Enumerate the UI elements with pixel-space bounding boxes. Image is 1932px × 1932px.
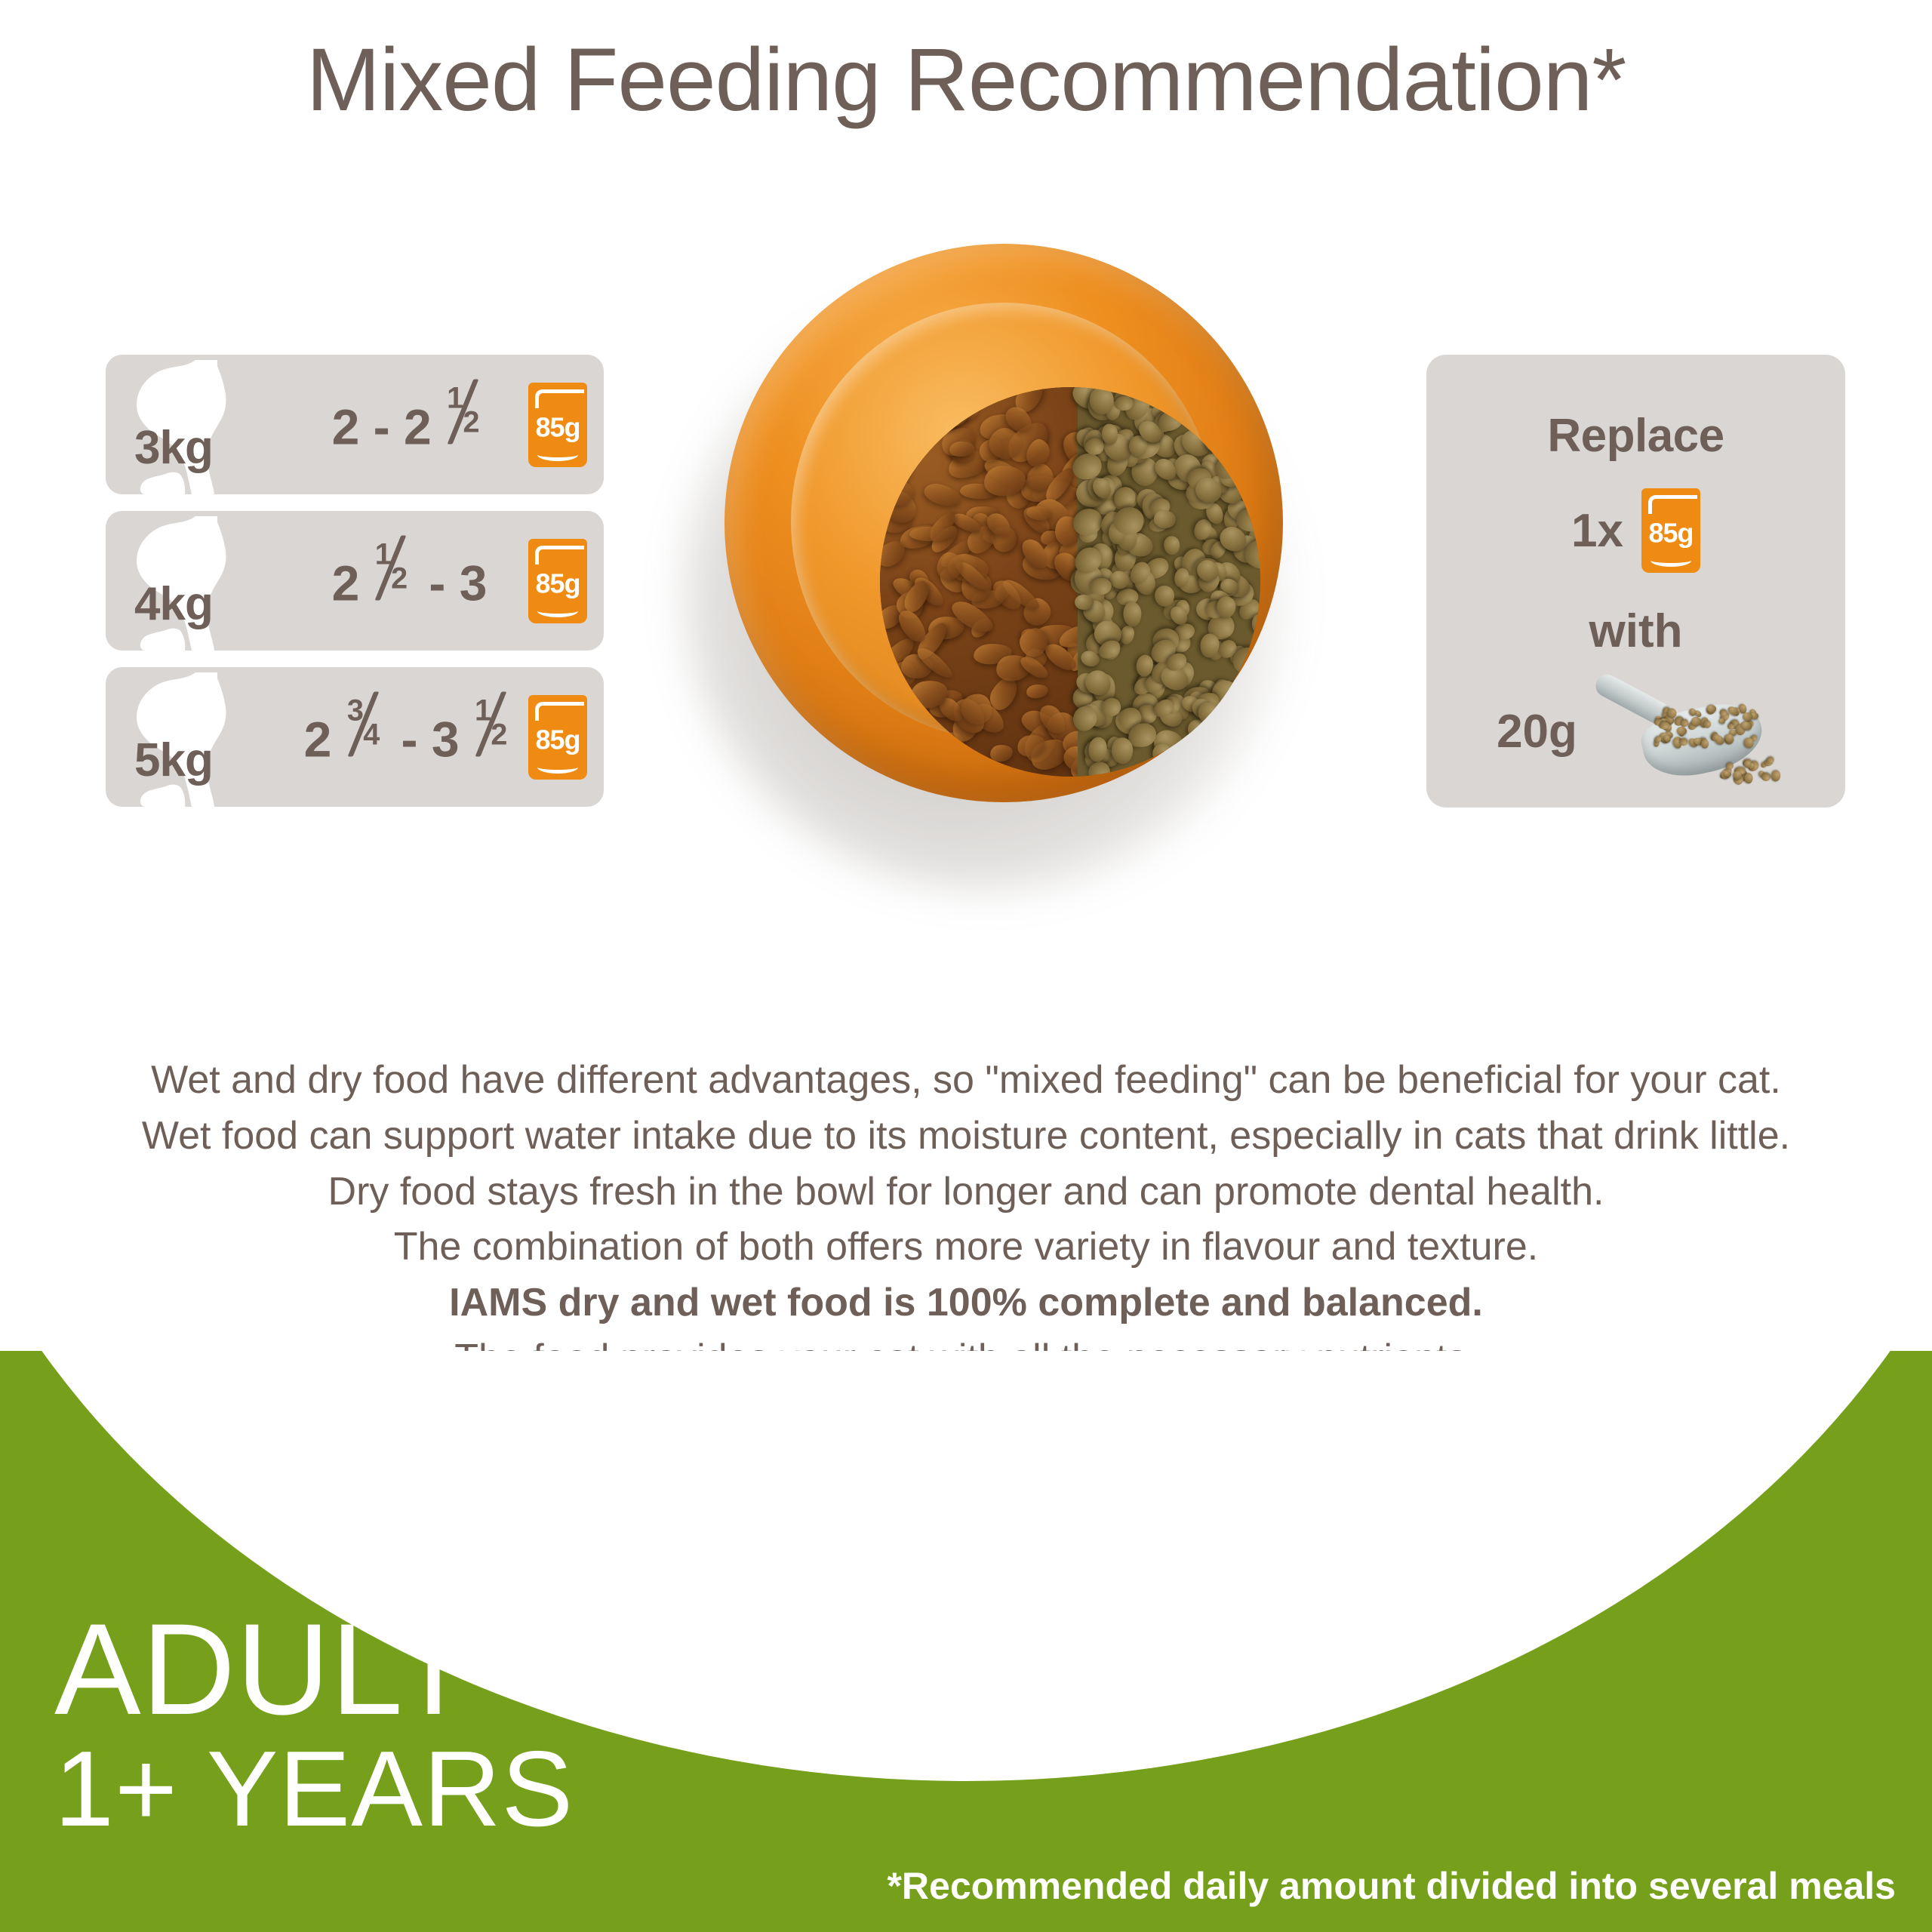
feeding-amount: 2 1 2 - 3	[302, 550, 517, 611]
body-line: Wet food can support water intake due to…	[0, 1109, 1932, 1164]
wet-food-half	[880, 387, 1078, 777]
amount-fraction-1: 1 2	[374, 550, 414, 600]
amount-dash: -	[429, 555, 445, 611]
amount-fraction-2: 1 2	[474, 706, 514, 756]
amount-whole-1: 2	[304, 711, 332, 767]
life-stage-label: ADULT	[54, 1607, 474, 1732]
table-row: 4kg 2 1 2 - 3 85g	[106, 511, 604, 651]
bowl-outer	[724, 244, 1283, 802]
age-range-label: 1+ YEARS	[54, 1736, 574, 1843]
wet-food-pouch-icon: 85g	[1641, 488, 1700, 573]
pouch-weight-label: 85g	[528, 568, 587, 599]
wet-food-pouch-icon: 85g	[528, 539, 587, 623]
table-row: 5kg 2 3 4 - 3 1 2 85g	[106, 667, 604, 807]
cat-weight-label: 4kg	[134, 577, 213, 631]
dry-food-half	[1078, 387, 1260, 777]
amount-fraction-1: 3 4	[346, 706, 386, 756]
wet-food-pouch-icon: 85g	[528, 383, 587, 467]
bowl-inner-rim	[791, 303, 1217, 740]
replace-quantity-row: 1x 85g	[1426, 488, 1845, 573]
fraction-denominator: 2	[463, 405, 480, 439]
amount-whole-1: 2	[332, 398, 360, 454]
infographic-page: Mixed Feeding Recommendation* 3kg 2 - 2 …	[0, 0, 1932, 1932]
pouch-weight-label: 85g	[528, 724, 587, 755]
page-title: Mixed Feeding Recommendation*	[0, 29, 1932, 131]
dry-food-scoop-icon	[1586, 675, 1775, 788]
feeding-amount: 2 3 4 - 3 1 2	[302, 706, 517, 768]
body-line-emphasis: IAMS dry and wet food is 100% complete a…	[0, 1275, 1932, 1331]
body-line: Dry food stays fresh in the bowl for lon…	[0, 1164, 1932, 1220]
amount-dash: -	[374, 398, 390, 454]
cat-weight-label: 5kg	[134, 734, 213, 787]
replace-with-label: with	[1426, 605, 1845, 658]
feeding-amount: 2 - 2 1 2	[302, 394, 517, 455]
replace-dry-weight: 20g	[1497, 705, 1577, 758]
amount-whole-2: 3	[460, 555, 488, 611]
fraction-denominator: 2	[491, 718, 507, 752]
replace-quantity: 1x	[1571, 504, 1623, 558]
body-copy: Wet and dry food have different advantag…	[0, 1053, 1932, 1387]
body-line: The combination of both offers more vari…	[0, 1220, 1932, 1275]
footnote: *Recommended daily amount divided into s…	[887, 1864, 1896, 1908]
replace-title: Replace	[1426, 409, 1845, 463]
replace-dry-row: 20g	[1426, 675, 1845, 788]
fraction-denominator: 2	[391, 561, 408, 595]
wet-food-pouch-icon: 85g	[528, 695, 587, 780]
replace-panel: Replace 1x 85g with 20g	[1426, 355, 1845, 808]
scoop-spilled-kibbles	[1713, 756, 1781, 786]
table-row: 3kg 2 - 2 1 2 85g	[106, 355, 604, 494]
pouch-weight-label: 85g	[528, 411, 587, 443]
amount-whole-1: 2	[332, 555, 360, 611]
amount-fraction-2: 1 2	[446, 394, 486, 444]
pouch-weight-label: 85g	[1641, 517, 1700, 549]
fraction-denominator: 4	[363, 718, 380, 752]
scoop-kibbles	[1651, 705, 1764, 753]
amount-dash: -	[401, 711, 418, 767]
amount-whole-2: 2	[404, 398, 432, 454]
body-line: Wet and dry food have different advantag…	[0, 1053, 1932, 1109]
bowl-food-area	[880, 387, 1260, 777]
food-bowl-image	[641, 215, 1321, 894]
feeding-table: 3kg 2 - 2 1 2 85g 4kg	[106, 355, 604, 823]
amount-whole-2: 3	[432, 711, 460, 767]
cat-weight-label: 3kg	[134, 421, 213, 475]
